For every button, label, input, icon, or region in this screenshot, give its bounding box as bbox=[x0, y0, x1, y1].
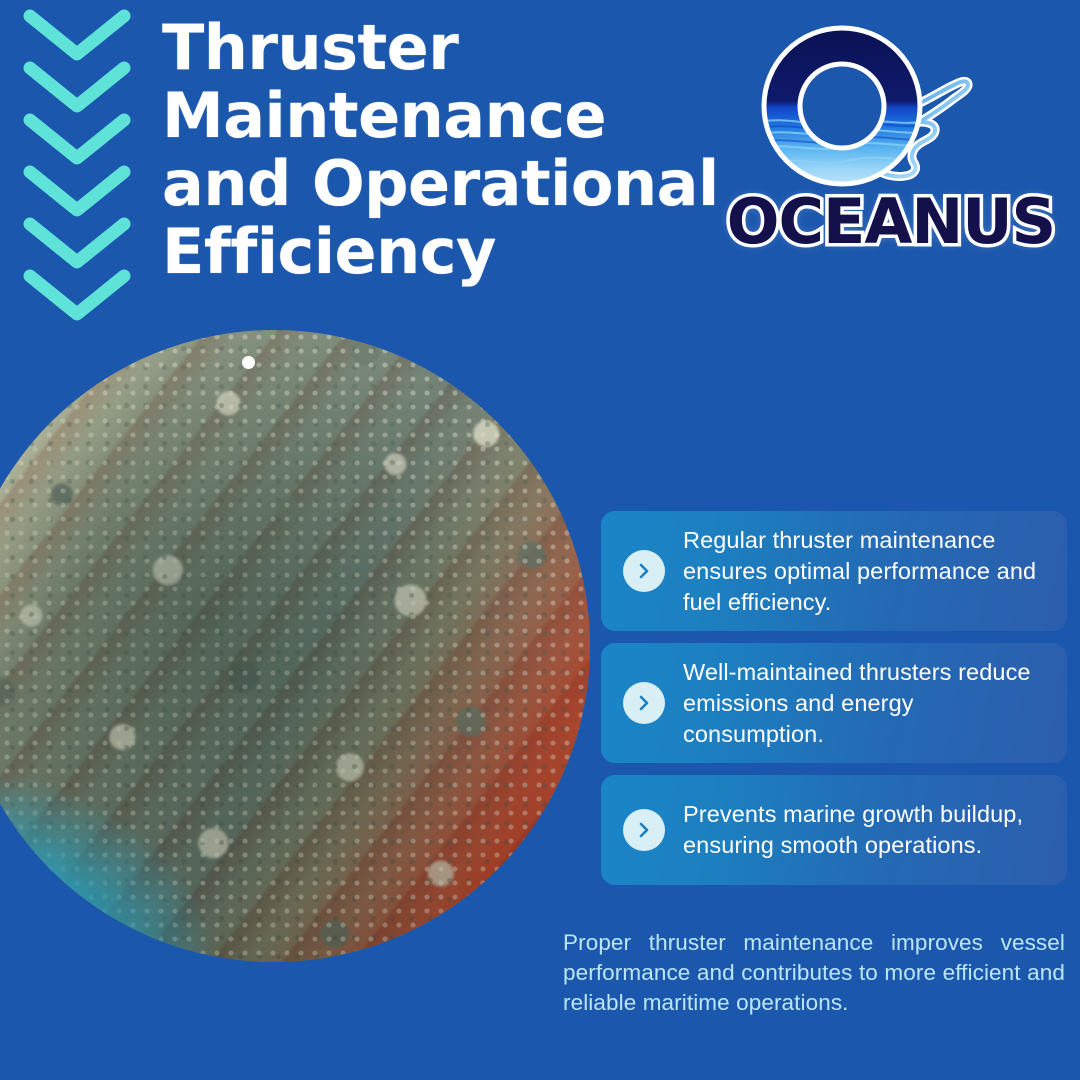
page-title-line: Efficiency bbox=[162, 218, 722, 286]
chevron-right-icon bbox=[623, 682, 665, 724]
benefit-card[interactable]: Prevents marine growth buildup, ensuring… bbox=[601, 775, 1067, 885]
benefit-card-list: Regular thruster maintenance ensures opt… bbox=[601, 511, 1067, 897]
chevron-right-icon bbox=[623, 550, 665, 592]
page-title-line: Maintenance bbox=[162, 82, 722, 150]
benefit-card-text: Regular thruster maintenance ensures opt… bbox=[683, 525, 1051, 618]
white-dot-marker-icon bbox=[242, 356, 255, 369]
chevron-down-icon bbox=[22, 214, 132, 272]
oceanus-wave-ring-logo-icon bbox=[724, 18, 994, 198]
hull-fouling-photo bbox=[0, 330, 590, 962]
chevron-down-icon bbox=[22, 58, 132, 116]
footer-note: Proper thruster maintenance improves ves… bbox=[563, 928, 1065, 1018]
photo-shading-layer bbox=[0, 330, 590, 962]
chevron-down-icon bbox=[22, 266, 132, 324]
page-title: ThrusterMaintenanceand OperationalEffici… bbox=[162, 14, 722, 286]
page-title-line: Thruster bbox=[162, 14, 722, 82]
chevron-right-icon bbox=[623, 809, 665, 851]
logo-wordmark: OCEANUS bbox=[718, 186, 1064, 258]
chevron-down-icon bbox=[22, 110, 132, 168]
benefit-card[interactable]: Regular thruster maintenance ensures opt… bbox=[601, 511, 1067, 631]
brand-logo: OCEANUS bbox=[718, 18, 1064, 264]
benefit-card-text: Prevents marine growth buildup, ensuring… bbox=[683, 799, 1051, 861]
chevron-decoration-strip bbox=[22, 6, 142, 326]
infographic-canvas: ThrusterMaintenanceand OperationalEffici… bbox=[0, 0, 1080, 1080]
page-title-line: and Operational bbox=[162, 150, 722, 218]
benefit-card[interactable]: Well-maintained thrusters reduce emissio… bbox=[601, 643, 1067, 763]
benefit-card-text: Well-maintained thrusters reduce emissio… bbox=[683, 657, 1051, 750]
chevron-down-icon bbox=[22, 6, 132, 64]
chevron-down-icon bbox=[22, 162, 132, 220]
